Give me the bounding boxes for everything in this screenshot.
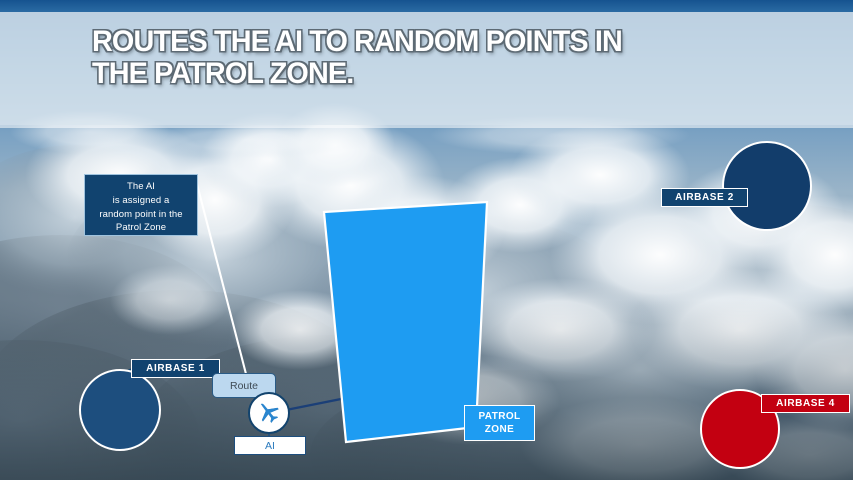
ai-label[interactable]: AI — [234, 436, 306, 455]
callout-textbox: The AI is assigned a random point in the… — [84, 174, 198, 236]
patrol-zone-polygon — [324, 202, 487, 442]
jet-glyph — [255, 399, 283, 427]
top-accent-strip — [0, 0, 853, 12]
fighter-jet-icon[interactable] — [248, 392, 290, 434]
airbase-4-label[interactable]: AIRBASE 4 — [761, 394, 850, 413]
header-divider — [0, 125, 853, 128]
airbase-2-label[interactable]: AIRBASE 2 — [661, 188, 748, 207]
airbase-2-marker[interactable] — [722, 141, 812, 231]
airbase-1-marker[interactable] — [79, 369, 161, 451]
patrol-zone-label[interactable]: PATROL ZONE — [464, 405, 535, 441]
callout-text: The AI is assigned a random point in the… — [99, 181, 182, 233]
page-title: ROUTES THE AI TO RANDOM POINTS IN THE PA… — [92, 26, 745, 91]
presentation-slide: ROUTES THE AI TO RANDOM POINTS IN THE PA… — [0, 0, 853, 480]
airbase-1-label[interactable]: AIRBASE 1 — [131, 359, 220, 378]
